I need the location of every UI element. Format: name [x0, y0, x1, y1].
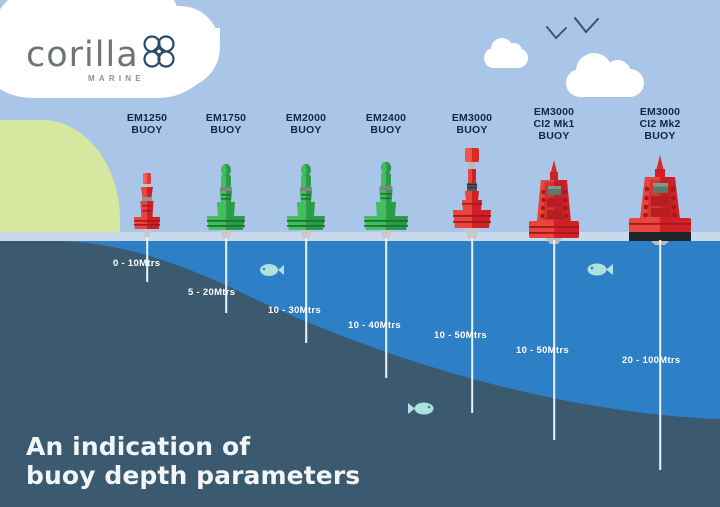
page-title-line1: An indication of — [26, 432, 360, 461]
mooring-line — [225, 238, 227, 313]
buoy-label-model: EM3000 — [600, 106, 720, 119]
infographic-canvas: corilla MARINE — [0, 0, 720, 507]
depth-label-em3000-ci2-mk1: 10 - 50Mtrs — [516, 345, 569, 356]
buoy-label-type: BUOY — [494, 130, 614, 143]
depth-label-em3000: 10 - 50Mtrs — [434, 330, 487, 341]
buoy-label-model: EM3000 — [494, 106, 614, 119]
buoy-label-type: BUOY — [600, 130, 720, 143]
buoy-label-variant: CI2 Mk2 — [600, 118, 720, 131]
page-title-line2: buoy depth parameters — [26, 461, 360, 490]
buoy-graphic-em3000-ci2-mk1 — [494, 160, 614, 244]
page-title: An indication of buoy depth parameters — [26, 432, 360, 490]
buoy-column-em3000-ci2-mk2[interactable]: EM3000 CI2 Mk2 BUOY — [600, 0, 720, 507]
mooring-line — [385, 238, 387, 378]
buoy-column-em3000-ci2-mk1[interactable]: EM3000 CI2 Mk1 BUOY — [494, 0, 614, 507]
depth-label-em1250: 0 - 10Mtrs — [113, 258, 160, 269]
buoy-label-variant: CI2 Mk1 — [494, 118, 614, 131]
depth-label-em3000-ci2-mk2: 20 - 100Mtrs — [622, 355, 681, 366]
depth-label-em1750: 5 - 20Mtrs — [188, 287, 235, 298]
mooring-line — [553, 240, 555, 440]
depth-label-em2400: 10 - 40Mtrs — [348, 320, 401, 331]
mooring-line — [471, 238, 473, 413]
mooring-line — [305, 238, 307, 343]
depth-label-em2000: 10 - 30Mtrs — [268, 305, 321, 316]
buoy-graphic-em3000-ci2-mk2 — [600, 155, 720, 245]
